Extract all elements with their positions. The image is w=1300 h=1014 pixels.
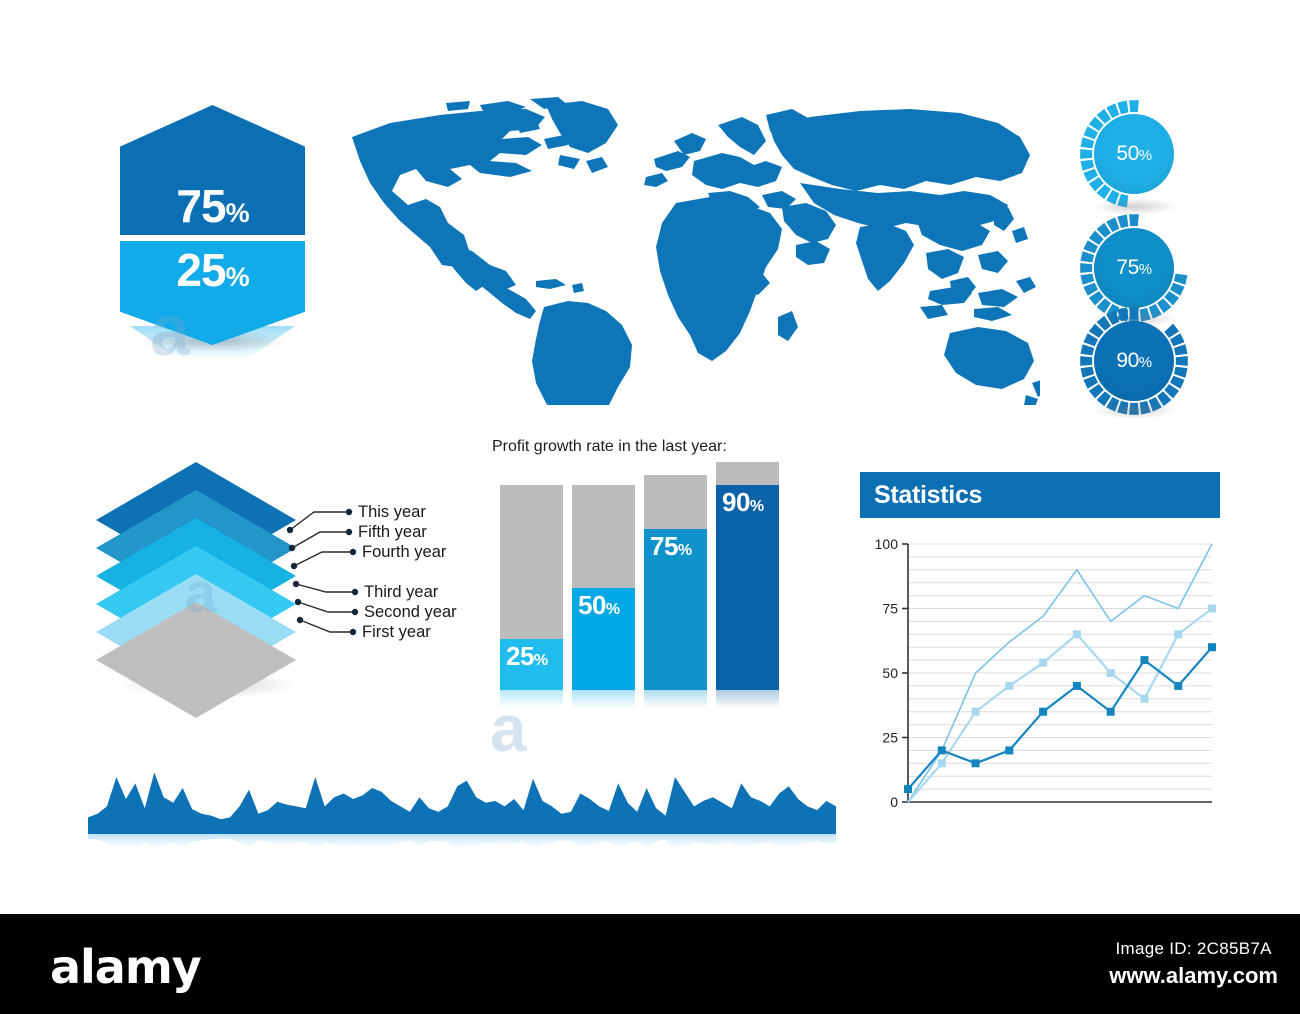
y-tick-label: 75: [882, 601, 898, 617]
gauge-segment: [1080, 149, 1092, 159]
series-marker: [1208, 605, 1216, 613]
bar-reflection: [572, 690, 635, 708]
series-marker: [972, 708, 980, 716]
gauge-segment: [1080, 160, 1094, 171]
bar-fill: 90%: [716, 485, 779, 690]
series-marker: [1140, 656, 1148, 664]
bar-track: 25%: [500, 485, 563, 690]
gauge-segment: [1080, 137, 1094, 148]
layer-stack-callouts: This year Fifth year Fourth year Third y…: [270, 466, 500, 696]
bar-fill: 75%: [644, 529, 707, 690]
area-chart-fill: [88, 772, 836, 834]
bar-fill: 25%: [500, 639, 563, 690]
gauge-90-value: 90%: [1116, 349, 1151, 373]
hexagon-bottom-value: 25%: [176, 247, 248, 293]
series-marker: [938, 759, 946, 767]
world-map: [330, 95, 1040, 405]
gauge-90-disc: 90%: [1094, 321, 1174, 401]
callout-label-second-year: Second year: [364, 603, 457, 622]
callout-label-third-year: Third year: [364, 583, 438, 602]
series-marker: [1073, 682, 1081, 690]
gauge-segment: [1129, 100, 1139, 112]
series-marker: [1107, 708, 1115, 716]
bar-value-label: 75%: [650, 533, 692, 559]
bar-track: 75%: [644, 475, 707, 690]
statistics-header: Statistics: [860, 472, 1220, 518]
bar-reflection: [644, 690, 707, 708]
bar-track: 50%: [572, 485, 635, 690]
bar-value-label: 50%: [578, 592, 620, 618]
bar-column: 90%: [716, 462, 779, 690]
bar-chart-title: Profit growth rate in the last year:: [492, 438, 727, 456]
callout-label-this-year: This year: [358, 503, 426, 522]
gauge-90-shadow: [1092, 402, 1178, 419]
gauge-segment: [1117, 214, 1128, 228]
alamy-website-text: www.alamy.com: [1109, 963, 1278, 989]
gauge-segment: [1174, 274, 1188, 285]
infographic-canvas: 75% 25%: [0, 0, 1300, 914]
gauge-segment: [1117, 307, 1128, 321]
bar-fill: 50%: [572, 588, 635, 691]
hexagon-percent-widget: 75% 25%: [120, 105, 305, 345]
y-tick-label: 100: [875, 536, 899, 552]
gauge-75-value: 75%: [1116, 256, 1151, 280]
gauge-segment: [1080, 263, 1092, 273]
alamy-logo: alamy: [50, 940, 201, 994]
series-marker: [1039, 659, 1047, 667]
series-marker: [904, 785, 912, 793]
gauge-segment: [1080, 367, 1094, 378]
callout-label-first-year: First year: [362, 623, 431, 642]
gauge-segment: [1129, 214, 1139, 226]
statistics-title: Statistics: [874, 481, 982, 510]
y-tick-label: 0: [890, 794, 898, 810]
series-marker: [972, 759, 980, 767]
bar-reflection: [500, 690, 563, 708]
area-chart-reflection: [88, 834, 836, 853]
gauge-segment: [1117, 100, 1128, 114]
gauge-segment: [1080, 251, 1094, 262]
series-marker: [1174, 630, 1182, 638]
bar-track: 90%: [716, 462, 779, 690]
series-marker: [1005, 746, 1013, 754]
bar-value-label: 25%: [506, 643, 548, 669]
series-marker: [1107, 669, 1115, 677]
alamy-footer-bar: alamy Image ID: 2C85B7A www.alamy.com: [0, 914, 1300, 1014]
gauge-50-disc: 50%: [1094, 114, 1174, 194]
hexagon-top-segment: 75%: [120, 105, 305, 235]
hexagon-bottom-segment: 25%: [120, 241, 305, 345]
series-marker: [1140, 695, 1148, 703]
y-tick-label: 25: [882, 730, 898, 746]
profit-growth-bar-chart: Profit growth rate in the last year: 25%…: [492, 438, 792, 708]
gauge-segment: [1176, 356, 1188, 366]
series-line: [908, 647, 1212, 789]
gauge-50: 50%: [1078, 98, 1190, 210]
gauge-segment: [1080, 356, 1092, 366]
callout-label-fourth-year: Fourth year: [362, 543, 446, 562]
world-map-landmasses: [352, 97, 1040, 405]
gauge-segment: [1080, 274, 1094, 285]
series-marker: [1039, 708, 1047, 716]
footer-meta: Image ID: 2C85B7A www.alamy.com: [1109, 939, 1278, 989]
stack-layer: [96, 602, 296, 718]
bar-column: 50%: [572, 485, 635, 690]
image-id-text: Image ID: 2C85B7A: [1109, 939, 1278, 959]
gauge-segment: [1080, 344, 1094, 355]
series-marker: [938, 746, 946, 754]
series-marker: [1208, 643, 1216, 651]
bar-reflection: [716, 690, 779, 708]
statistics-panel: Statistics 0255075100: [860, 472, 1220, 837]
gauge-50-value: 50%: [1116, 142, 1151, 166]
series-marker: [1005, 682, 1013, 690]
gauge-segment: [1174, 344, 1188, 355]
callout-leader-lines: [270, 466, 500, 696]
gauge-segment: [1174, 367, 1188, 378]
spiky-area-chart: [88, 716, 836, 866]
gauge-segment: [1129, 307, 1139, 319]
y-tick-label: 50: [882, 665, 898, 681]
hexagon-top-value: 75%: [176, 183, 248, 229]
gauge-75-disc: 75%: [1094, 228, 1174, 308]
bar-column: 25%: [500, 485, 563, 690]
statistics-line-plot: 0255075100: [860, 534, 1220, 834]
callout-label-fifth-year: Fifth year: [358, 523, 427, 542]
series-marker: [1073, 630, 1081, 638]
bar-value-label: 90%: [722, 489, 764, 515]
gauge-90: 90%: [1078, 305, 1190, 417]
bar-column: 75%: [644, 475, 707, 690]
series-line: [908, 609, 1212, 803]
series-marker: [1174, 682, 1182, 690]
